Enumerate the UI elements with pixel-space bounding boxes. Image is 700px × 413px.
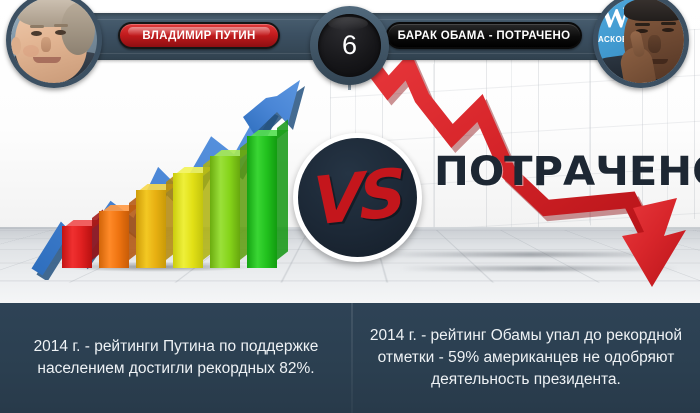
right-name-pill-label: БАРАК ОБАМА - ПОТРАЧЕНО [398,30,571,42]
right-name-pill[interactable]: БАРАК ОБАМА - ПОТРАЧЕНО [386,22,582,49]
avatar-putin [6,0,102,88]
vs-label: VS [312,160,402,235]
left-name-pill-label: ВЛАДИМИР ПУТИН [142,30,255,42]
bar-3 [136,190,166,268]
putin-portrait [11,0,97,83]
potracheno-overlay-label: ПОТРАЧЕНО [434,152,700,192]
badge-gloss [328,17,368,30]
slide-number-value: 6 [342,32,357,59]
vs-badge: VS [293,133,422,262]
avatar-obama: W АСКОВА [593,0,689,88]
bar-6 [247,136,277,268]
bar-4 [173,173,203,268]
bar-2 [99,211,129,268]
obama-portrait: W АСКОВА [598,0,684,83]
bar-chart [62,148,272,268]
bar-1 [62,226,92,268]
vs-badge-core: VS [298,138,417,257]
left-name-pill[interactable]: ВЛАДИМИР ПУТИН [118,22,280,49]
infographic-canvas: VS ПОТРАЧЕНО ВЛАДИМИР ПУТИН БАРАК ОБАМА … [0,0,700,413]
caption-right: 2014 г. - рейтинг Обамы упал до рекордно… [352,303,700,413]
bar-5 [210,156,240,268]
slide-number-badge: 6 [310,6,389,85]
caption-left: 2014 г. - рейтинги Путина по поддержке н… [0,303,352,413]
